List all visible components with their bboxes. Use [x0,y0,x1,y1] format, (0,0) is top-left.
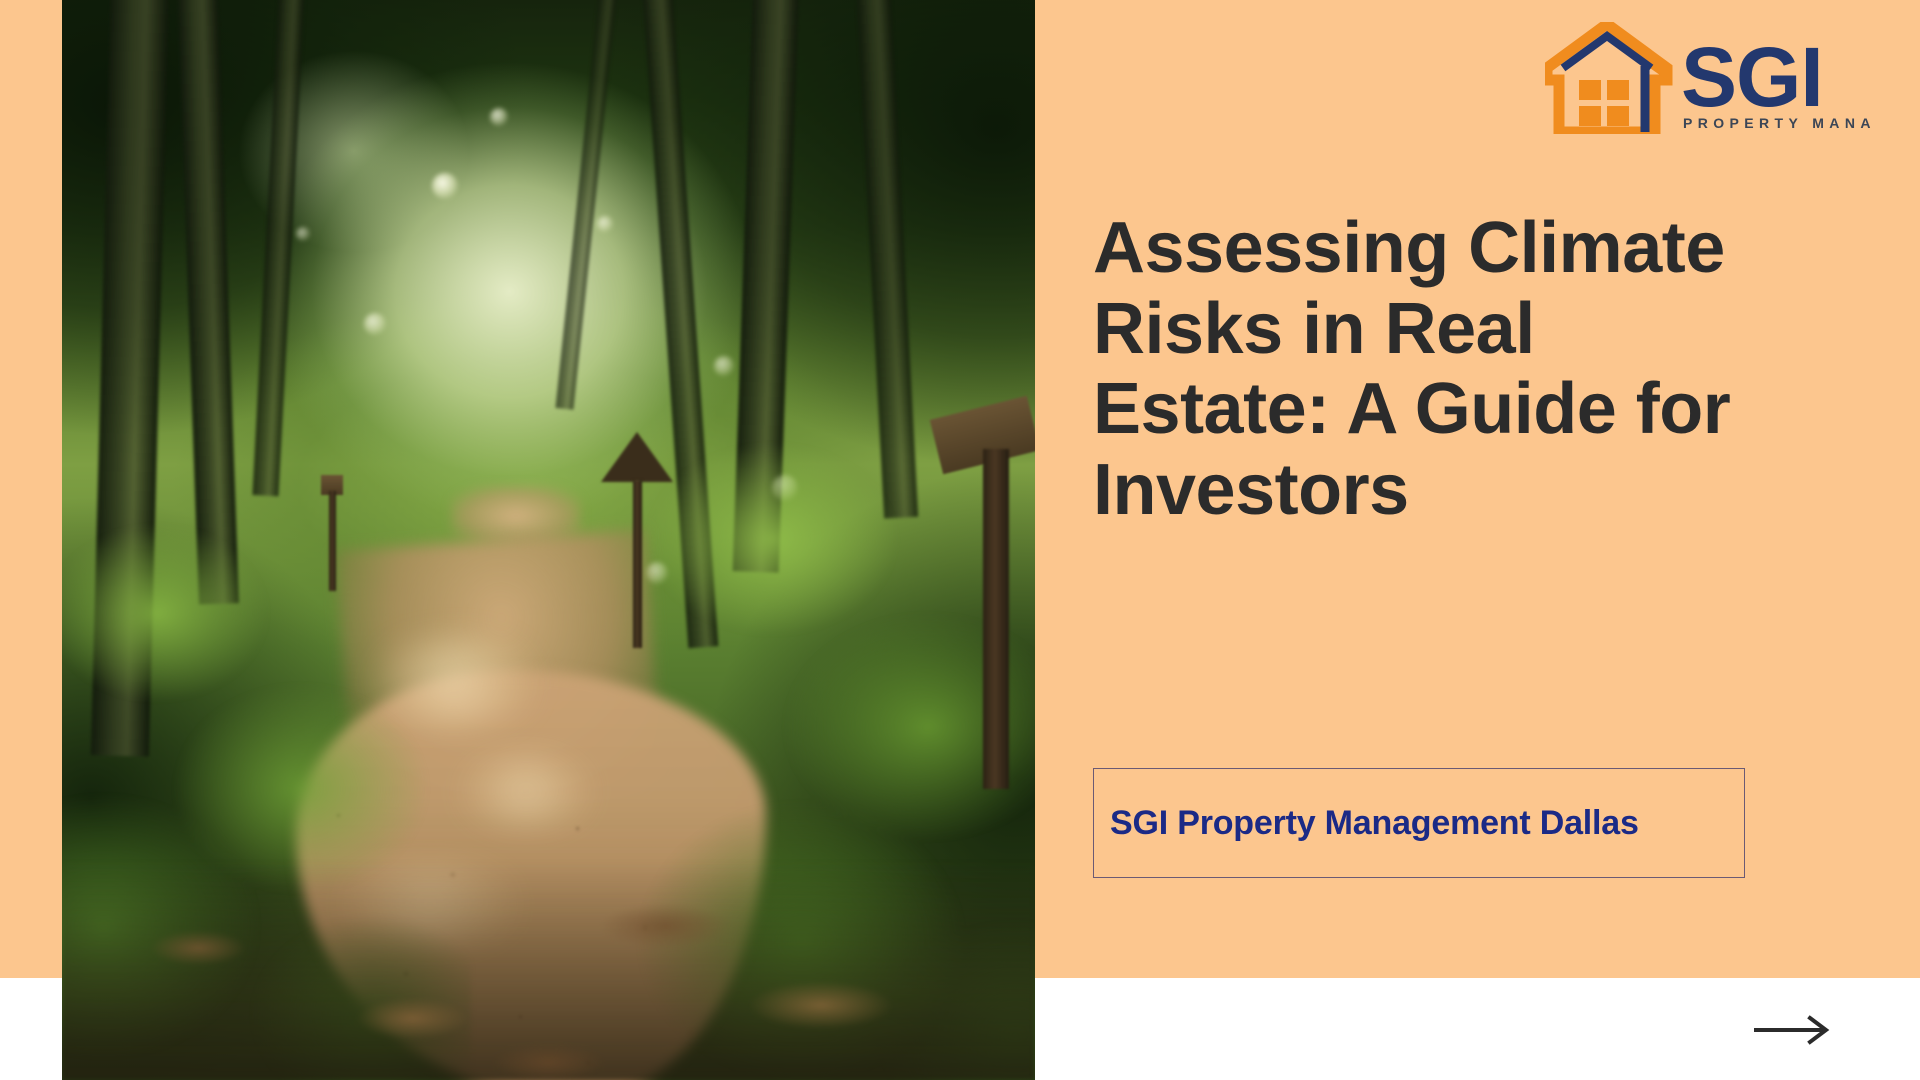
arrow-right-icon[interactable] [1752,1013,1834,1047]
company-name-label: SGI Property Management Dallas [1094,804,1639,843]
forest-trail-photo [62,0,1035,1080]
company-name-box: SGI Property Management Dallas [1093,768,1745,878]
sun-dapple [451,756,601,826]
photo-scene [62,0,1035,1080]
triangular-trail-sign [597,432,687,652]
house-icon [1547,24,1667,132]
logo-tagline: PROPERTY MANAGEMENT [1683,115,1875,131]
sgi-logo: SGI PROPERTY MANAGEMENT [1545,22,1875,134]
trail-post-left [315,475,355,595]
slide-canvas: SGI PROPERTY MANAGEMENT Assessing Climat… [0,0,1920,1080]
page-title: Assessing Climate Risks in Real Estate: … [1093,208,1773,531]
leaf-litter [62,860,1035,1080]
wooden-signpost-right [925,389,1035,789]
logo-wordmark: SGI [1681,30,1823,124]
